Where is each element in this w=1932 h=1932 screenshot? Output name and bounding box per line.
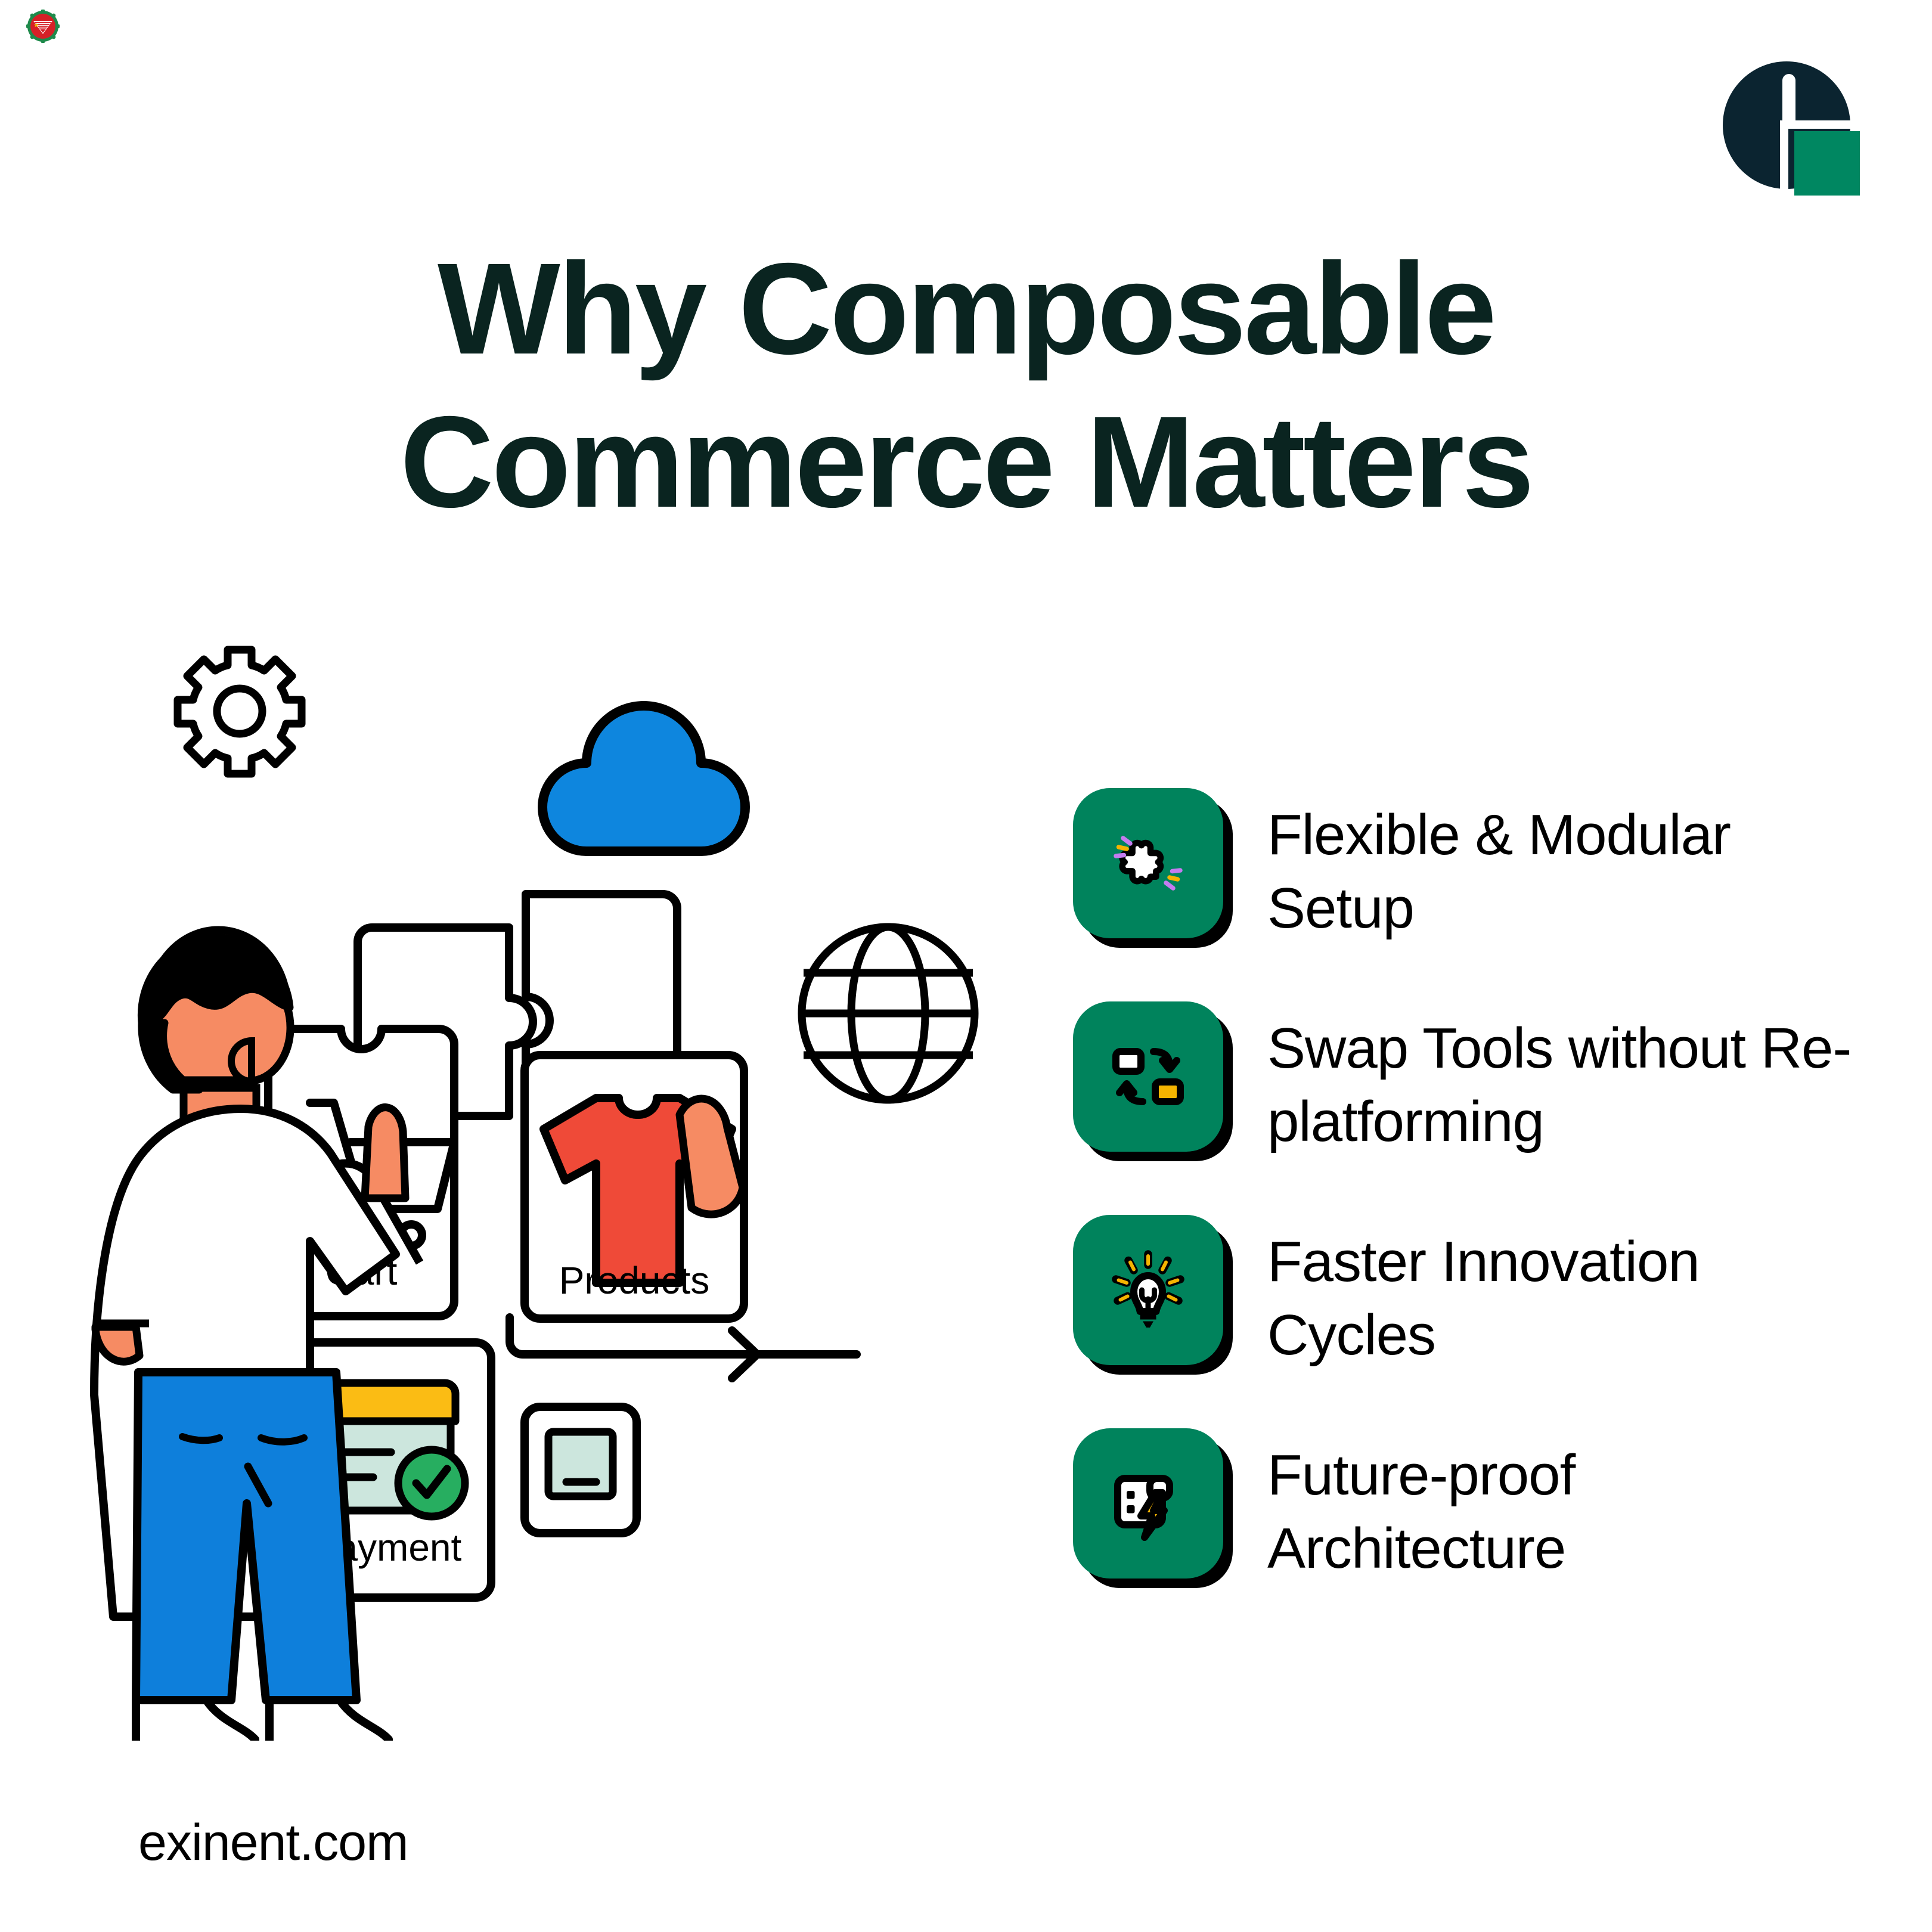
feature-label-1: Flexible & Modular Setup	[1267, 788, 1881, 945]
card-label-products: Products	[559, 1259, 710, 1302]
tile-background	[1073, 1428, 1223, 1579]
feature-tile-3	[1073, 1215, 1226, 1367]
tile-background	[1073, 788, 1223, 938]
feature-item-swap-tools[interactable]: Swap Tools without Re-platforming	[1073, 1001, 1908, 1215]
feature-tile-1	[1073, 788, 1226, 941]
exinent-logo	[1718, 58, 1867, 207]
footer-url[interactable]: exinent.com	[138, 1813, 408, 1872]
lightbulb-idea-icon	[1103, 1245, 1193, 1335]
feature-item-flexible-modular-setup[interactable]: Flexible & Modular Setup	[1073, 788, 1908, 1001]
right-arrow-icon	[680, 1331, 757, 1378]
server-lightning-icon	[1103, 1459, 1193, 1548]
swap-arrows-icon	[1103, 1032, 1193, 1121]
tile-background	[1073, 1215, 1223, 1365]
title-line-2: Commerce Matters	[0, 386, 1932, 539]
circular-emblem-badge	[26, 10, 60, 43]
card-module	[525, 1407, 637, 1533]
composable-commerce-illustration: Cart Products Payment	[72, 644, 1145, 1741]
gear-outline-icon	[178, 650, 302, 774]
feature-item-future-proof[interactable]: Future-proof Architecture	[1073, 1428, 1908, 1642]
feature-label-2: Swap Tools without Re-platforming	[1267, 1001, 1881, 1159]
globe-wireframe-icon	[802, 927, 975, 1100]
feature-list: Flexible & Modular Setup Swap Tools with…	[1073, 788, 1908, 1642]
feature-item-faster-innovation[interactable]: Faster Innovation Cycles	[1073, 1215, 1908, 1428]
cloud-icon	[542, 706, 745, 851]
feature-tile-4	[1073, 1428, 1226, 1581]
feature-label-3: Faster Innovation Cycles	[1267, 1215, 1881, 1372]
feature-label-4: Future-proof Architecture	[1267, 1428, 1881, 1586]
title-line-1: Why Composable	[0, 232, 1932, 386]
page-title: Why Composable Commerce Matters	[0, 232, 1932, 539]
feature-tile-2	[1073, 1001, 1226, 1154]
tile-background	[1073, 1001, 1223, 1152]
puzzle-pieces-icon	[1103, 818, 1193, 908]
